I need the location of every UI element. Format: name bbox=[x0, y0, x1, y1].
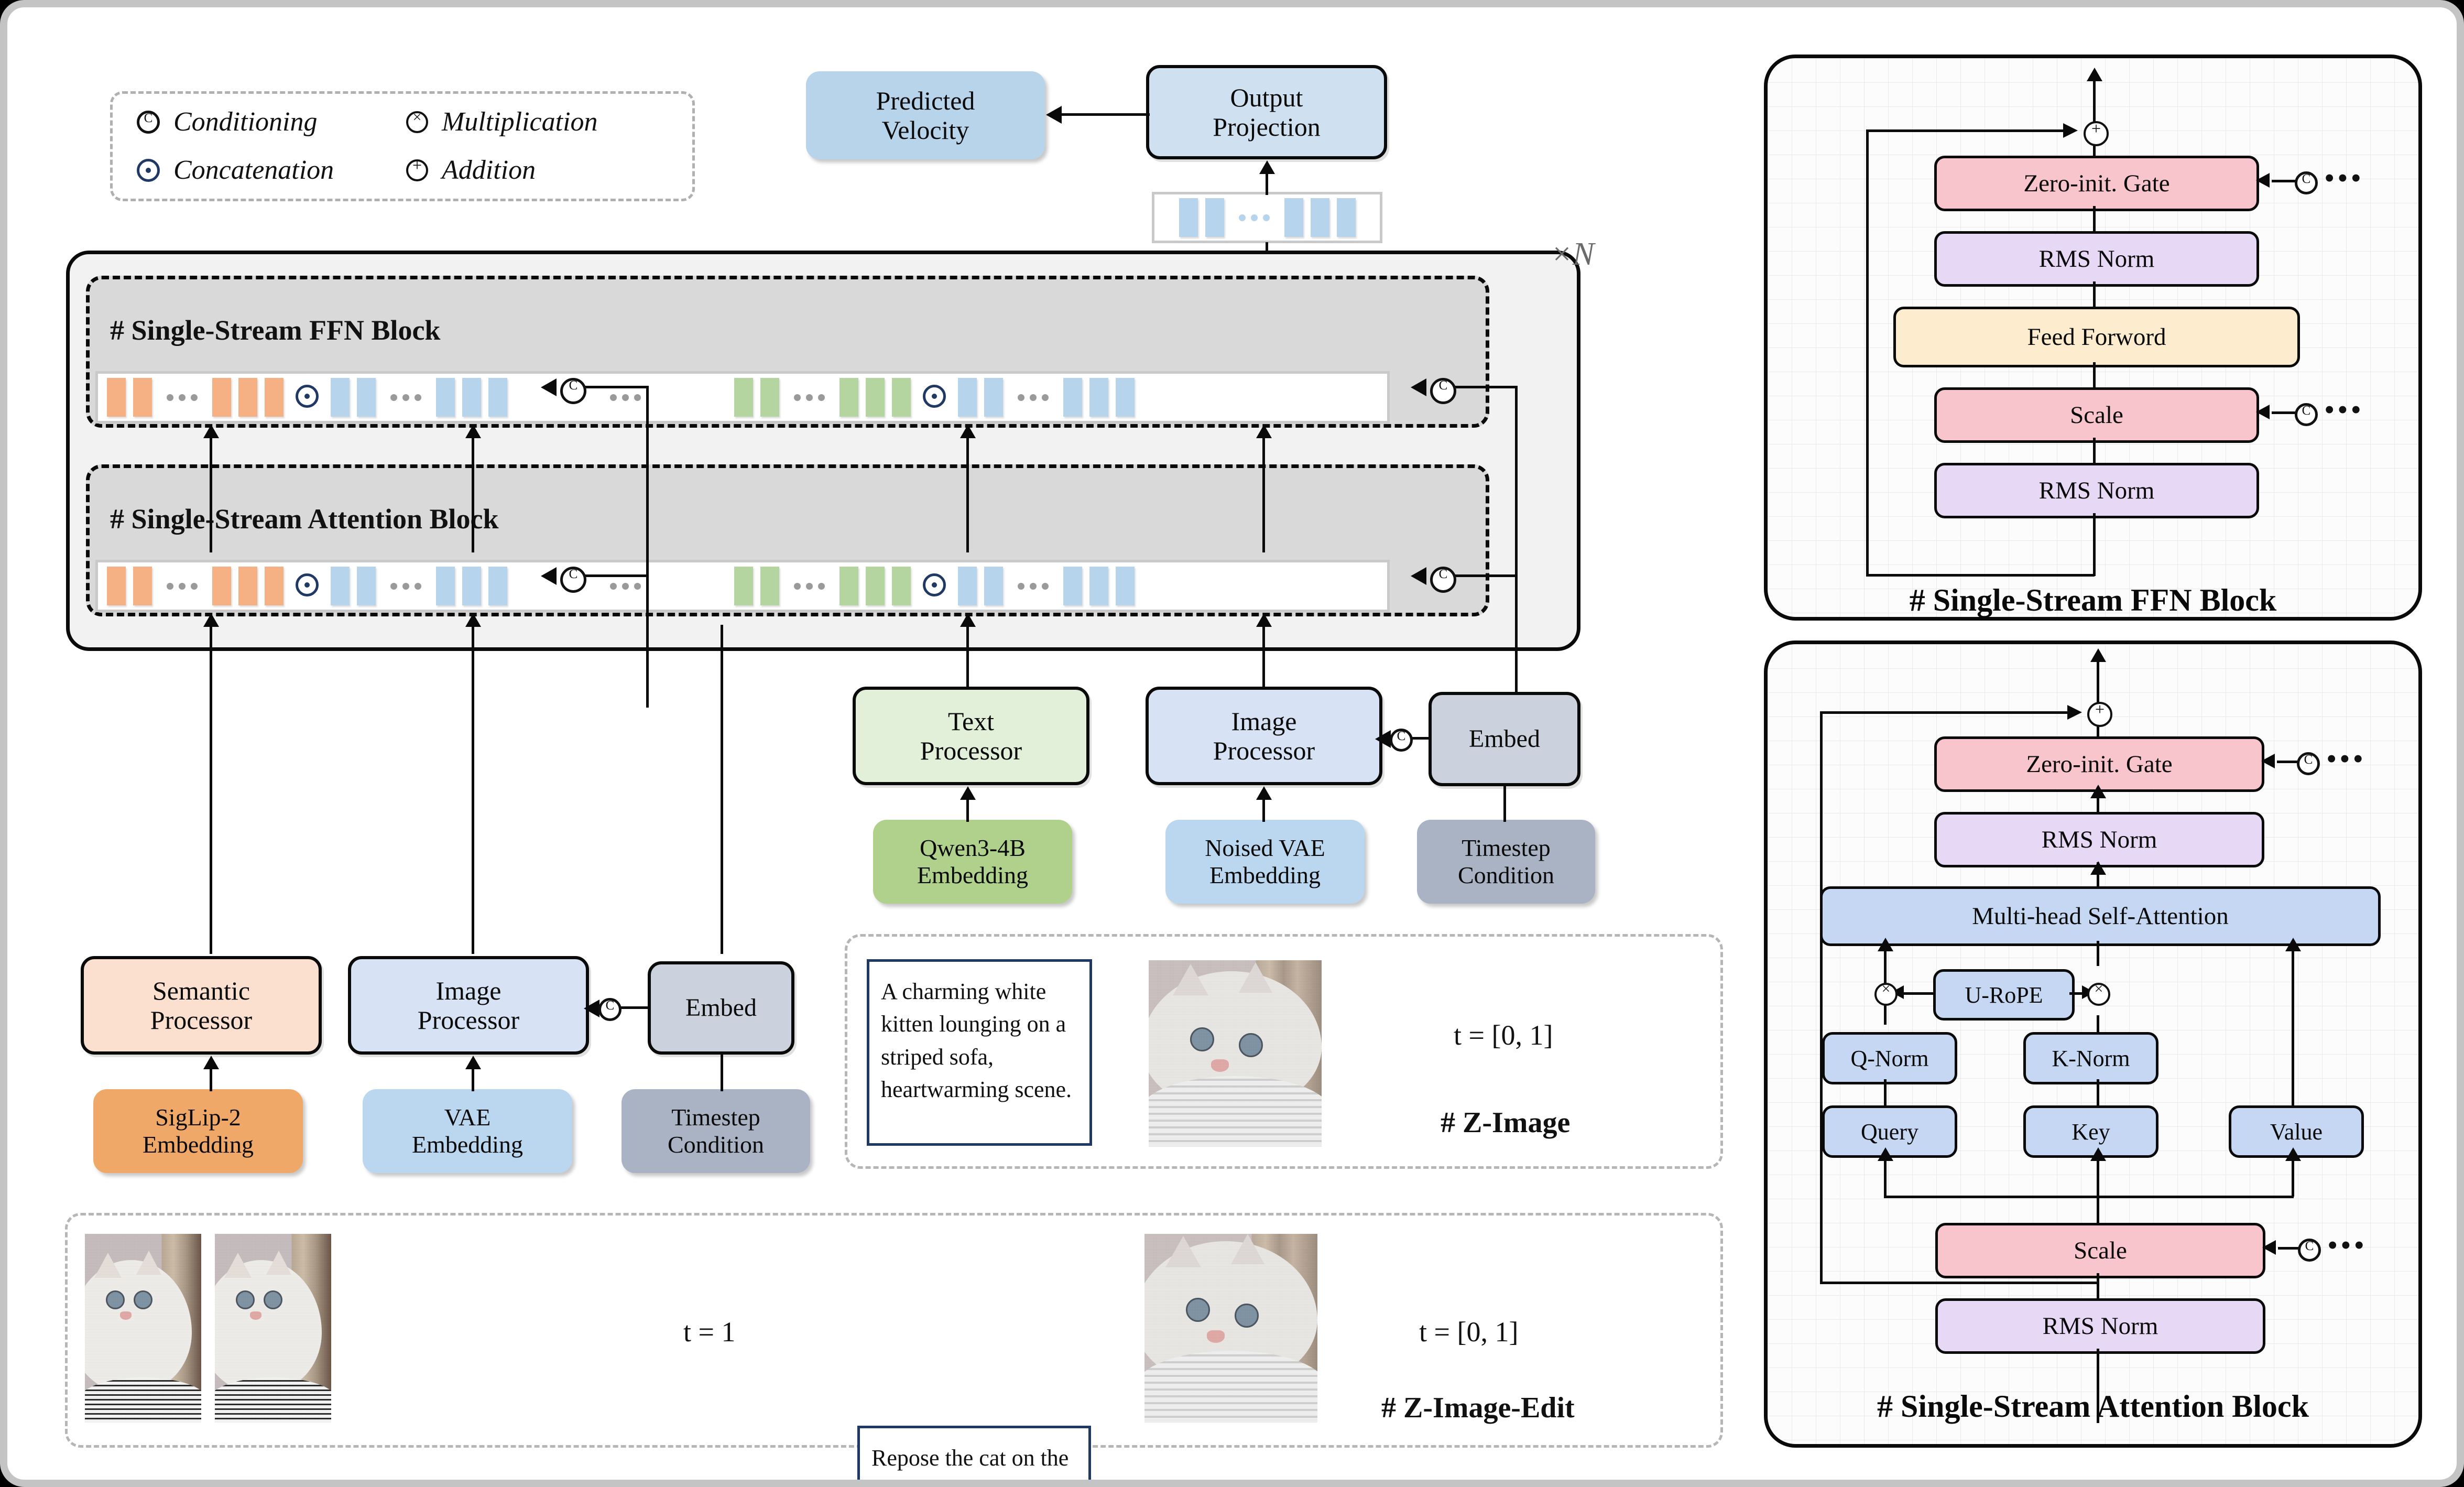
ellipsis-icon bbox=[607, 583, 644, 590]
ffn-token-text bbox=[839, 378, 858, 417]
ffn-scale-cond-ellipsis: ••• bbox=[2324, 395, 2364, 425]
timestep-left-line2: Condition bbox=[668, 1131, 764, 1158]
ffn-rms-norm-top-label: RMS Norm bbox=[2039, 245, 2155, 273]
attn-to-ffn-arrow bbox=[1256, 425, 1272, 438]
attn-token-semantic bbox=[238, 567, 257, 605]
conditioning-icon bbox=[598, 998, 622, 1024]
ellipsis-icon bbox=[791, 394, 827, 401]
qwen-to-text-arrow bbox=[960, 786, 976, 800]
ffn-token-image2 bbox=[1089, 378, 1108, 417]
siglip-to-semantic-line bbox=[210, 1068, 212, 1091]
text-to-attn-arrow bbox=[960, 613, 976, 627]
ffn-scale-cond-arrow bbox=[2256, 405, 2270, 419]
predicted-velocity-line2: Velocity bbox=[876, 115, 975, 145]
ffn-token-semantic bbox=[107, 378, 126, 417]
z-image-edit-prompt-card: Repose the cat on the striped sofa: make… bbox=[857, 1426, 1091, 1487]
vae-to-image-left-line bbox=[472, 1068, 474, 1091]
attn-token-image bbox=[436, 567, 455, 605]
ffn-token-image2 bbox=[958, 378, 977, 417]
attn-token-image bbox=[488, 567, 507, 605]
inner-cond-arrow-ffn bbox=[541, 378, 557, 396]
image2-to-attn-line bbox=[1262, 625, 1265, 688]
siglip-line2: Embedding bbox=[143, 1131, 254, 1158]
legend-box: Conditioning Multiplication Concatenatio… bbox=[110, 91, 695, 201]
addition-icon bbox=[2087, 702, 2112, 730]
semantic-processor-line2: Processor bbox=[150, 1005, 252, 1035]
multiplication-icon bbox=[2087, 983, 2110, 1008]
ellipsis-icon bbox=[1015, 583, 1051, 590]
qwen-embedding-box: Qwen3-4B Embedding bbox=[873, 820, 1072, 904]
attn-rms-norm-top-box: RMS Norm bbox=[1934, 812, 2264, 867]
attn-zero-init-gate-box: Zero-init. Gate bbox=[1934, 736, 2264, 792]
inner-cond-arrow-attn bbox=[541, 567, 557, 585]
attn-to-ffn-arrow bbox=[203, 425, 219, 438]
conditioning-icon bbox=[560, 567, 586, 595]
output-token bbox=[1337, 198, 1356, 237]
repeat-count-label: ×N bbox=[1551, 236, 1594, 273]
concatenation-icon bbox=[923, 385, 946, 410]
attn-scale-box: Scale bbox=[1935, 1223, 2265, 1278]
ellipsis-icon bbox=[164, 583, 200, 590]
attention-detail-panel: Zero-init. Gate RMS Norm Multi-head Self… bbox=[1764, 641, 2422, 1448]
attn-query-label: Query bbox=[1861, 1119, 1918, 1145]
output-token bbox=[1179, 198, 1198, 237]
ffn-scale-box: Scale bbox=[1934, 387, 2259, 443]
attention-block-title: # Single-Stream Attention Block bbox=[110, 503, 499, 535]
noised-vae-line1: Noised VAE bbox=[1205, 834, 1325, 862]
ffn-token-semantic bbox=[265, 378, 284, 417]
attn-urope-box: U-RoPE bbox=[1933, 969, 2075, 1021]
attn-scale-cond-ellipsis: ••• bbox=[2327, 1230, 2367, 1261]
conditioning-icon bbox=[1390, 729, 1413, 754]
embed-right-box: Embed bbox=[1429, 692, 1580, 786]
conditioning-icon bbox=[137, 111, 160, 134]
image-processor-left-line1: Image bbox=[418, 976, 519, 1005]
attn-gate-cond-ellipsis: ••• bbox=[2326, 744, 2366, 774]
ellipsis-icon bbox=[388, 583, 424, 590]
attn-to-ffn-arrow bbox=[960, 425, 976, 438]
ffn-detail-panel: Zero-init. Gate RMS Norm Feed Forword Sc… bbox=[1764, 55, 2422, 621]
ffn-token-semantic bbox=[212, 378, 231, 417]
vae-to-image-line bbox=[1262, 799, 1265, 822]
attn-to-ffn-line bbox=[966, 436, 969, 552]
addition-icon bbox=[2084, 121, 2109, 149]
ellipsis-icon bbox=[1015, 394, 1051, 401]
ffn-gate-cond-arrow bbox=[2256, 173, 2270, 188]
attn-token-semantic bbox=[212, 567, 231, 605]
attn-to-ffn-arrow bbox=[465, 425, 481, 438]
attn-urope-label: U-RoPE bbox=[1965, 982, 2043, 1008]
ffn-token-image bbox=[357, 378, 376, 417]
attn-output-arrow bbox=[2090, 648, 2106, 662]
embed-left-cond-arrow bbox=[584, 1000, 599, 1017]
attn-token-image bbox=[357, 567, 376, 605]
z-image-edit-output-photo bbox=[1144, 1234, 1317, 1423]
predicted-velocity-box: Predicted Velocity bbox=[806, 71, 1045, 159]
semantic-to-attn-line bbox=[210, 625, 212, 954]
ffn-token-image2 bbox=[1116, 378, 1135, 417]
vae-line1: VAE bbox=[412, 1104, 523, 1131]
z-image-edit-input-photo-1 bbox=[85, 1234, 201, 1423]
qwen-to-text-line bbox=[966, 799, 969, 822]
attn-rms-norm-bottom-label: RMS Norm bbox=[2043, 1312, 2158, 1340]
output-token bbox=[1284, 198, 1303, 237]
attn-mhsa-box: Multi-head Self-Attention bbox=[1820, 886, 2381, 946]
ffn-rms-norm-bottom-box: RMS Norm bbox=[1934, 463, 2259, 518]
trunk-arrow-to-output-projection bbox=[1259, 160, 1275, 174]
attn-token-image bbox=[462, 567, 481, 605]
ffn-token-image bbox=[436, 378, 455, 417]
ffn-token-image bbox=[462, 378, 481, 417]
ffn-feed-forward-label: Feed Forword bbox=[2027, 323, 2166, 351]
inner-cond-branch-attn bbox=[584, 574, 648, 577]
attn-rms-norm-top-label: RMS Norm bbox=[2042, 826, 2157, 854]
image-processor-right-line2: Processor bbox=[1213, 736, 1315, 765]
vae-embedding-box: VAE Embedding bbox=[363, 1089, 572, 1173]
output-token-strip bbox=[1152, 192, 1382, 243]
timestep-left-box: Timestep Condition bbox=[622, 1089, 810, 1173]
attn-token-semantic bbox=[107, 567, 126, 605]
attn-q-norm-label: Q-Norm bbox=[1850, 1045, 1928, 1072]
ffn-token-image bbox=[331, 378, 350, 417]
attn-token-text bbox=[839, 567, 858, 605]
outer-cond-arrow-attn bbox=[1411, 567, 1426, 585]
legend-label-multiplication: Multiplication bbox=[442, 106, 598, 137]
embed-left-box: Embed bbox=[648, 961, 794, 1055]
conditioning-icon bbox=[2295, 403, 2318, 429]
vae-line2: Embedding bbox=[412, 1131, 523, 1158]
timestep-right-box: Timestep Condition bbox=[1417, 820, 1595, 904]
text-processor-line1: Text bbox=[920, 707, 1022, 736]
text-to-attn-line bbox=[966, 625, 969, 688]
z-image-t-value: t = [0, 1] bbox=[1454, 1019, 1553, 1051]
embed-right-cond-arrow bbox=[1375, 730, 1391, 748]
image-to-attn-line bbox=[472, 625, 474, 954]
ellipsis-icon bbox=[791, 583, 827, 590]
timestep-to-embed-right-line bbox=[1503, 786, 1506, 822]
attn-token-image2 bbox=[1063, 567, 1082, 605]
attn-residual-arrow-head bbox=[2067, 705, 2082, 720]
ffn-rms-norm-bottom-label: RMS Norm bbox=[2039, 476, 2155, 505]
ffn-rms-norm-top-box: RMS Norm bbox=[1934, 231, 2259, 287]
trunk-line-top bbox=[1266, 173, 1268, 195]
attention-token-strip bbox=[95, 560, 1390, 612]
concatenation-icon bbox=[296, 573, 319, 599]
embed-left-line bbox=[721, 625, 723, 954]
image2-to-attn-arrow bbox=[1256, 613, 1272, 627]
inner-cond-trunk bbox=[646, 386, 649, 708]
attn-token-image2 bbox=[958, 567, 977, 605]
conditioning-icon bbox=[2298, 1239, 2321, 1264]
multiplication-icon bbox=[406, 111, 428, 133]
z-image-edit-input-photo-2 bbox=[215, 1234, 331, 1423]
ffn-token-text bbox=[760, 378, 779, 417]
semantic-to-attn-arrow bbox=[203, 613, 219, 627]
ellipsis-icon bbox=[1236, 214, 1272, 221]
noised-vae-embedding-box: Noised VAE Embedding bbox=[1165, 820, 1365, 904]
attn-token-semantic bbox=[265, 567, 284, 605]
ffn-token-image2 bbox=[984, 378, 1003, 417]
attn-rms-norm-bottom-box: RMS Norm bbox=[1935, 1298, 2265, 1354]
attn-k-norm-label: K-Norm bbox=[2052, 1045, 2130, 1072]
arrow-output-to-velocity-line bbox=[1062, 113, 1150, 116]
outer-cond-trunk bbox=[1515, 386, 1518, 725]
outer-cond-branch-ffn bbox=[1454, 386, 1517, 388]
image-processor-right-box: Image Processor bbox=[1146, 687, 1382, 785]
ffn-token-text bbox=[866, 378, 885, 417]
image-processor-left-line2: Processor bbox=[418, 1005, 519, 1035]
ellipsis-icon bbox=[607, 394, 644, 401]
conditioning-icon bbox=[2297, 752, 2320, 778]
conditioning-icon bbox=[2295, 171, 2318, 197]
attn-token-semantic bbox=[133, 567, 152, 605]
attn-scale-label: Scale bbox=[2074, 1236, 2127, 1265]
ffn-panel-title: # Single-Stream FFN Block bbox=[1768, 582, 2418, 618]
attn-mhsa-label: Multi-head Self-Attention bbox=[1972, 902, 2228, 930]
output-token bbox=[1205, 198, 1224, 237]
output-projection-line2: Projection bbox=[1213, 112, 1321, 142]
timestep-left-line1: Timestep bbox=[668, 1104, 764, 1131]
ffn-token-semantic bbox=[133, 378, 152, 417]
ffn-gate-cond-ellipsis: ••• bbox=[2324, 163, 2364, 193]
concatenation-icon bbox=[296, 385, 319, 410]
text-processor-box: Text Processor bbox=[853, 687, 1089, 785]
z-image-tag: # Z-Image bbox=[1441, 1106, 1570, 1139]
attn-value-label: Value bbox=[2270, 1119, 2323, 1145]
attn-token-image2 bbox=[1089, 567, 1108, 605]
conditioning-icon bbox=[560, 378, 586, 407]
arrow-output-to-velocity-head bbox=[1046, 106, 1062, 124]
output-projection-line1: Output bbox=[1213, 83, 1321, 112]
timestep-to-embed-left-line bbox=[721, 1055, 723, 1091]
ffn-residual-arrow-head bbox=[2063, 123, 2078, 138]
legend-label-addition: Addition bbox=[442, 155, 536, 186]
vae-to-image-arrow bbox=[1256, 786, 1272, 800]
vae-to-image-left-arrow bbox=[465, 1056, 481, 1069]
attn-panel-title: # Single-Stream Attention Block bbox=[1768, 1388, 2418, 1425]
ffn-token-semantic bbox=[238, 378, 257, 417]
siglip-line1: SigLip-2 bbox=[143, 1104, 254, 1131]
attn-to-ffn-line bbox=[1262, 436, 1265, 552]
z-image-edit-t-output: t = [0, 1] bbox=[1419, 1316, 1518, 1348]
predicted-velocity-line1: Predicted bbox=[876, 86, 975, 115]
output-projection-box: Output Projection bbox=[1146, 65, 1387, 159]
legend-label-concatenation: Concatenation bbox=[173, 155, 334, 186]
ffn-token-image bbox=[488, 378, 507, 417]
concatenation-icon bbox=[923, 573, 946, 599]
ffn-zero-init-gate-label: Zero-init. Gate bbox=[2023, 169, 2169, 198]
urope-to-q-line bbox=[1900, 992, 1934, 995]
conditioning-icon bbox=[1430, 567, 1456, 595]
attn-to-ffn-line bbox=[472, 436, 474, 552]
attn-token-image2 bbox=[1116, 567, 1135, 605]
z-image-prompt-card: A charming white kitten lounging on a st… bbox=[867, 959, 1092, 1146]
output-token bbox=[1311, 198, 1329, 237]
image-processor-left-box: Image Processor bbox=[348, 956, 589, 1055]
attn-token-text bbox=[734, 567, 753, 605]
attn-gate-cond-arrow bbox=[2261, 754, 2275, 768]
concatenation-icon bbox=[137, 159, 160, 182]
conditioning-icon bbox=[1430, 378, 1456, 407]
z-image-edit-prompt-text: Repose the cat on the striped sofa: make… bbox=[860, 1428, 1088, 1487]
attn-to-ffn-line bbox=[210, 436, 212, 552]
ffn-token-text bbox=[892, 378, 911, 417]
outer-cond-arrow-ffn bbox=[1411, 378, 1426, 396]
attn-token-text bbox=[866, 567, 885, 605]
attn-key-label: Key bbox=[2071, 1119, 2110, 1145]
image-to-attn-arrow bbox=[465, 613, 481, 627]
ellipsis-icon bbox=[164, 394, 200, 401]
attn-token-text bbox=[892, 567, 911, 605]
attn-k-norm-box: K-Norm bbox=[2023, 1032, 2158, 1084]
z-image-edit-t-input: t = 1 bbox=[683, 1316, 735, 1348]
diagram-canvas: Conditioning Multiplication Concatenatio… bbox=[0, 0, 2464, 1487]
siglip-to-semantic-arrow bbox=[203, 1056, 219, 1069]
ellipsis-icon bbox=[388, 394, 424, 401]
semantic-processor-line1: Semantic bbox=[150, 976, 252, 1005]
ffn-output-arrow bbox=[2087, 68, 2102, 81]
siglip-embedding-box: SigLip-2 Embedding bbox=[93, 1089, 303, 1173]
embed-right-label: Embed bbox=[1469, 725, 1540, 753]
inner-cond-branch-ffn bbox=[584, 386, 648, 388]
attn-token-image bbox=[331, 567, 350, 605]
attn-token-text bbox=[760, 567, 779, 605]
ffn-zero-init-gate-box: Zero-init. Gate bbox=[1934, 156, 2259, 211]
timestep-right-line1: Timestep bbox=[1458, 834, 1554, 862]
semantic-processor-box: Semantic Processor bbox=[81, 956, 322, 1055]
ffn-token-strip bbox=[95, 371, 1390, 424]
attn-q-norm-box: Q-Norm bbox=[1822, 1032, 1957, 1084]
ffn-token-image2 bbox=[1063, 378, 1082, 417]
text-processor-line2: Processor bbox=[920, 736, 1022, 765]
qwen-line1: Qwen3-4B bbox=[917, 834, 1028, 862]
timestep-right-line2: Condition bbox=[1458, 862, 1554, 889]
multiplication-icon bbox=[1874, 983, 1898, 1008]
attn-token-image2 bbox=[984, 567, 1003, 605]
addition-icon bbox=[406, 159, 428, 181]
z-image-edit-tag: # Z-Image-Edit bbox=[1381, 1391, 1575, 1425]
ffn-block-title: # Single-Stream FFN Block bbox=[110, 314, 440, 346]
ffn-feed-forward-box: Feed Forword bbox=[1893, 307, 2300, 367]
attn-zero-init-gate-label: Zero-init. Gate bbox=[2026, 750, 2172, 778]
z-image-prompt-text: A charming white kitten lounging on a st… bbox=[869, 962, 1089, 1120]
image-processor-right-line1: Image bbox=[1213, 707, 1315, 736]
outer-cond-branch-attn bbox=[1454, 574, 1517, 577]
z-image-output-photo bbox=[1149, 960, 1322, 1147]
legend-label-conditioning: Conditioning bbox=[173, 106, 317, 137]
qwen-line2: Embedding bbox=[917, 862, 1028, 889]
attn-scale-cond-arrow bbox=[2262, 1240, 2276, 1255]
noised-vae-line2: Embedding bbox=[1205, 862, 1325, 889]
embed-left-label: Embed bbox=[685, 994, 757, 1022]
ffn-token-text bbox=[734, 378, 753, 417]
ffn-scale-label: Scale bbox=[2070, 401, 2123, 429]
